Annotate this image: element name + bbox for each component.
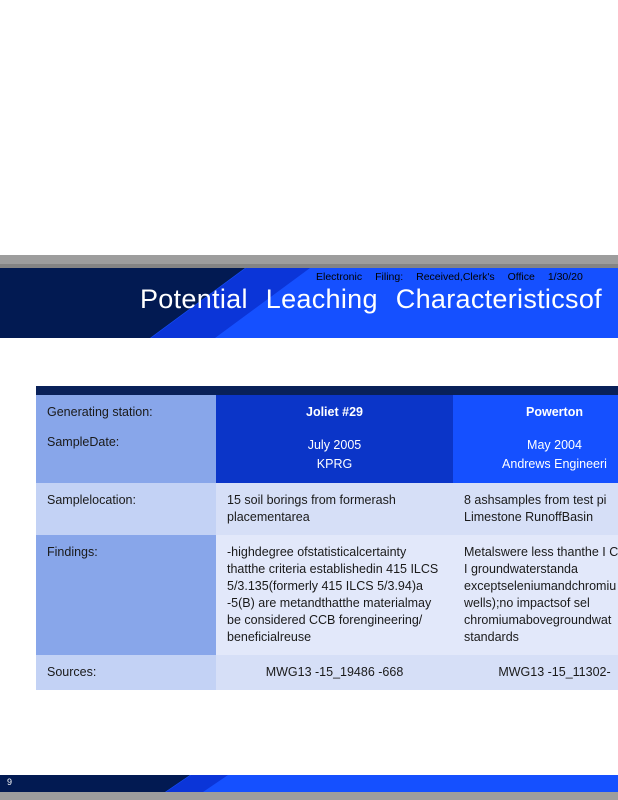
- title-word-1: Leaching: [266, 284, 378, 314]
- slide-title: PotentialLeachingCharacteristicsofHist: [140, 282, 618, 316]
- label-generating-station: Generating station:: [47, 405, 153, 419]
- row-label-sources: Sources:: [36, 655, 216, 690]
- row-label-findings: Findings:: [36, 535, 216, 655]
- row-label-sample-location: Samplelocation:: [36, 483, 216, 535]
- findings-joliet: -highdegree ofstatisticalcertainty thatt…: [216, 535, 453, 655]
- station-name-powerton: Powerton: [464, 403, 618, 422]
- table-row-findings: Findings: -highdegree ofstatisticalcerta…: [36, 535, 618, 655]
- sample-date-joliet: July 2005: [227, 436, 442, 455]
- source-joliet: MWG13 -15_19486 -668: [216, 655, 453, 690]
- efiling-stamp: ElectronicFiling:Received,Clerk'sOffice1…: [316, 271, 618, 284]
- efiling-word-3: Office: [508, 271, 535, 283]
- table-row-sample-location: Samplelocation: 15 soil borings from for…: [36, 483, 618, 535]
- table-top-band-cell-2: [216, 386, 453, 395]
- sample-location-powerton: 8 ashsamples from test pi Limestone Runo…: [453, 483, 618, 535]
- label-sample-date: SampleDate:: [47, 434, 205, 451]
- table-top-band-cell-3: [453, 386, 618, 395]
- table-top-band: [36, 386, 618, 395]
- row-label-station-date: Generating station: SampleDate:: [36, 395, 216, 483]
- table-row-header: Generating station: SampleDate: Joliet #…: [36, 395, 618, 483]
- title-word-2: Characteristicsof: [396, 284, 602, 314]
- page-number: 9: [7, 777, 12, 787]
- efiling-word-1: Filing:: [375, 271, 403, 283]
- efiling-word-0: Electronic: [316, 271, 362, 283]
- footer-banner: [0, 775, 618, 792]
- bottom-grey-rule: [0, 792, 618, 800]
- column-header-joliet: Joliet #29 July 2005 KPRG: [216, 395, 453, 483]
- source-powerton: MWG13 -15_11302-: [453, 655, 618, 690]
- consultant-powerton: Andrews Engineeri: [464, 455, 618, 474]
- title-word-0: Potential: [140, 284, 248, 314]
- table-top-band-cell-1: [36, 386, 216, 395]
- table-row-sources: Sources: MWG13 -15_19486 -668 MWG13 -15_…: [36, 655, 618, 690]
- slide-canvas: ElectronicFiling:Received,Clerk'sOffice1…: [0, 0, 618, 800]
- efiling-word-4: 1/30/20: [548, 271, 583, 283]
- findings-powerton: Metalswere less thanthe I Class I ground…: [453, 535, 618, 655]
- column-header-powerton: Powerton May 2004 Andrews Engineeri: [453, 395, 618, 483]
- efiling-word-2: Received,Clerk's: [416, 271, 494, 283]
- sample-location-joliet: 15 soil borings from formerash placement…: [216, 483, 453, 535]
- sample-date-powerton: May 2004: [464, 436, 618, 455]
- consultant-joliet: KPRG: [227, 455, 442, 474]
- leaching-characteristics-table: Generating station: SampleDate: Joliet #…: [36, 386, 618, 690]
- station-name-joliet: Joliet #29: [227, 403, 442, 422]
- top-grey-rule: [0, 255, 618, 264]
